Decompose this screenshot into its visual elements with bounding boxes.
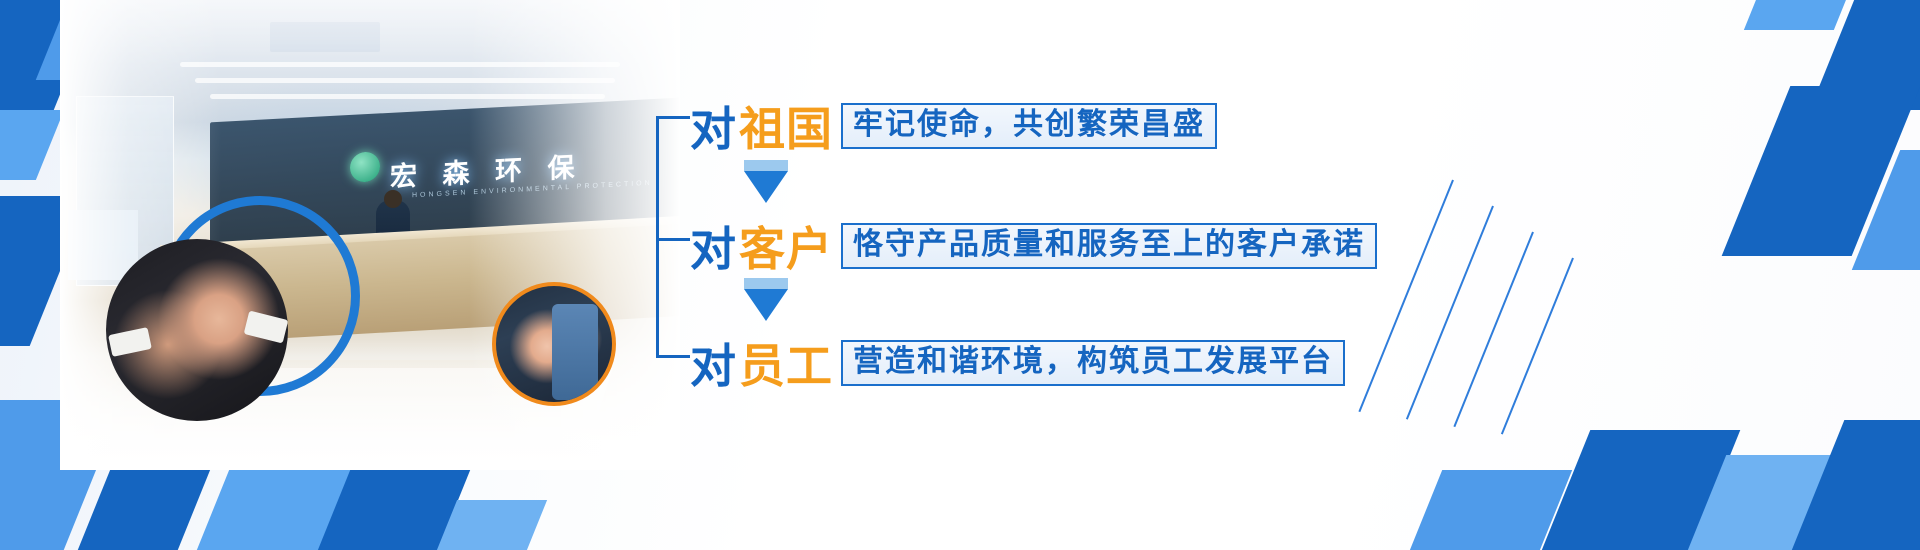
arrow-down-2-icon bbox=[744, 278, 788, 321]
value-row-3-phrase: 营造和谐环境，构筑员工发展平台 bbox=[841, 340, 1345, 386]
arrow-down-1-icon bbox=[744, 160, 788, 203]
bracket-branch-line-3 bbox=[656, 355, 690, 358]
value-row-2: 对 客户 恪守产品质量和服务至上的客户承诺 bbox=[690, 213, 1377, 279]
arrow-down-1-triangle bbox=[744, 171, 788, 203]
value-row-3-lead: 对 bbox=[690, 330, 737, 396]
value-row-1-phrase: 牢记使命，共创繁荣昌盛 bbox=[841, 103, 1217, 149]
value-row-2-phrase: 恪守产品质量和服务至上的客户承诺 bbox=[841, 223, 1377, 269]
value-row-1-keyword: 祖国 bbox=[739, 93, 833, 159]
value-row-2-keyword: 客户 bbox=[739, 213, 833, 279]
value-row-1-lead: 对 bbox=[690, 93, 737, 159]
arrow-down-2-cap bbox=[744, 278, 788, 289]
bracket-branch-line-2 bbox=[656, 238, 690, 241]
arrow-down-2-triangle bbox=[744, 289, 788, 321]
company-values-banner: 宏 森 环 保 HONGSEN ENVIRONMENTAL PROTECTION bbox=[0, 0, 1920, 550]
bracket-branch-line-1 bbox=[656, 116, 690, 119]
value-row-1: 对 祖国 牢记使命，共创繁荣昌盛 bbox=[690, 93, 1217, 159]
value-row-3: 对 员工 营造和谐环境，构筑员工发展平台 bbox=[690, 330, 1345, 396]
arrow-down-1-cap bbox=[744, 160, 788, 171]
value-row-3-keyword: 员工 bbox=[739, 330, 833, 396]
value-row-2-lead: 对 bbox=[690, 213, 737, 279]
bracket-vertical-line bbox=[656, 116, 659, 358]
